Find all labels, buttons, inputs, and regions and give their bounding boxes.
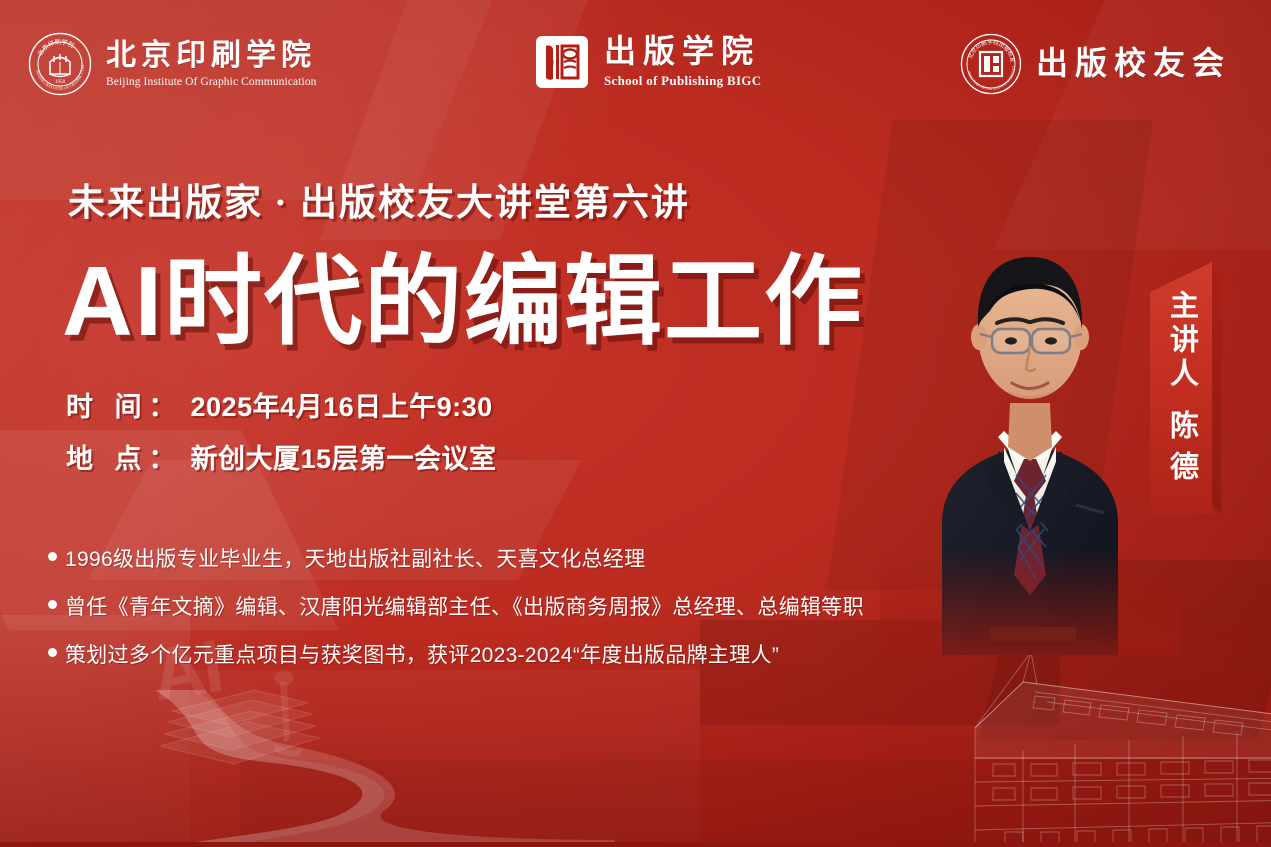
speaker-portrait	[880, 175, 1180, 655]
logo-bigc: 1958 北京印刷学院 BEIJING INSTITUTE OF GRAPHIC…	[28, 32, 317, 96]
list-item: 策划过多个亿元重点项目与获奖图书，获评2023-2024“年度出版品牌主理人”	[48, 639, 864, 669]
meta-row-time: 时 间： 2025年4月16日上午9:30	[66, 385, 497, 424]
speaker-bio-list: 1996级出版专业毕业生，天地出版社副社长、天喜文化总经理 曾任《青年文摘》编辑…	[48, 543, 864, 687]
logo-bigc-cn: 北京印刷学院	[106, 40, 317, 72]
svg-text:北京印刷学院: 北京印刷学院	[36, 38, 76, 58]
logo-bigc-en: Beijing Institute Of Graphic Communicati…	[106, 76, 317, 88]
meta-value-location: 新创大厦15层第一会议室	[191, 437, 497, 476]
event-poster: AI	[0, 0, 1271, 847]
event-meta: 时 间： 2025年4月16日上午9:30 地 点： 新创大厦15层第一会议室	[66, 385, 497, 489]
meta-label-time: 时 间：	[66, 385, 183, 424]
list-item: 1996级出版专业毕业生，天地出版社副社长、天喜文化总经理	[48, 543, 864, 573]
winding-road-icon	[55, 690, 615, 847]
speaker-banner-edge	[1212, 268, 1221, 514]
poster-title: AI时代的编辑工作	[62, 252, 864, 350]
alumni-seal-icon: 北京印刷学院出版校友会 BIGC PUBLISHING ALUMNI ASSOC…	[960, 33, 1022, 95]
logo-publishing-cn: 出版学院	[604, 35, 761, 69]
bullet-dot-icon	[48, 552, 57, 561]
list-item-label: 策划过多个亿元重点项目与获奖图书，获评2023-2024“年度出版品牌主理人”	[65, 639, 779, 669]
speaker-banner: 主讲人 陈德	[1150, 262, 1212, 514]
bottom-rule	[0, 842, 1271, 847]
bullet-dot-icon	[48, 600, 57, 609]
svg-text:1958: 1958	[55, 80, 66, 85]
logo-alumni: 北京印刷学院出版校友会 BIGC PUBLISHING ALUMNI ASSOC…	[960, 33, 1231, 95]
speaker-banner-label: 主讲人	[1167, 290, 1196, 392]
meta-row-location: 地 点： 新创大厦15层第一会议室	[66, 437, 497, 476]
speaker-banner-name: 陈德	[1167, 410, 1196, 492]
logo-alumni-cn: 出版校友会	[1036, 47, 1231, 81]
bullet-dot-icon	[48, 648, 57, 657]
logo-school-of-publishing: 出版学院 School of Publishing BIGC	[534, 34, 761, 90]
publishing-stamp-icon	[534, 34, 590, 90]
list-item-label: 曾任《青年文摘》编辑、汉唐阳光编辑部主任、《出版商务周报》总经理、总编辑等职	[65, 591, 864, 621]
poster-subtitle: 未来出版家 · 出版校友大讲堂第六讲	[68, 172, 690, 226]
bigc-seal-icon: 1958 北京印刷学院 BEIJING INSTITUTE OF GRAPHIC…	[28, 32, 92, 96]
logo-header: 1958 北京印刷学院 BEIJING INSTITUTE OF GRAPHIC…	[0, 0, 1271, 128]
list-item: 曾任《青年文摘》编辑、汉唐阳光编辑部主任、《出版商务周报》总经理、总编辑等职	[48, 591, 864, 621]
meta-value-time: 2025年4月16日上午9:30	[191, 385, 493, 424]
campus-building-wireframe-icon	[905, 640, 1271, 847]
list-item-label: 1996级出版专业毕业生，天地出版社副社长、天喜文化总经理	[65, 543, 645, 573]
logo-publishing-en: School of Publishing BIGC	[604, 73, 761, 89]
meta-label-location: 地 点：	[66, 437, 183, 476]
